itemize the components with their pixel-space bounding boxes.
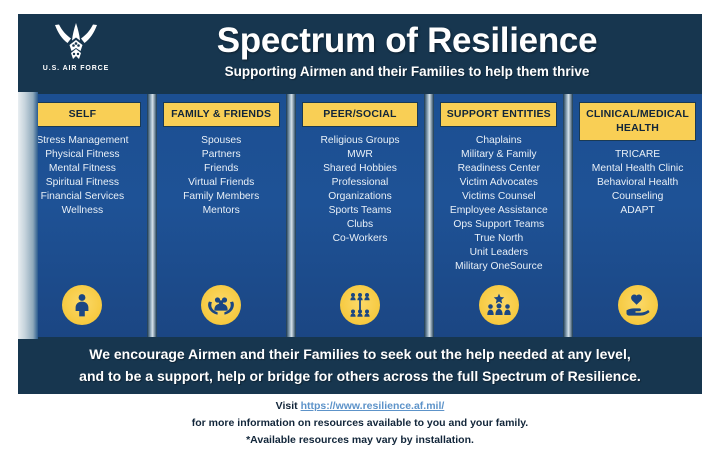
team-with-star-icon [479, 285, 519, 325]
footer-line-2: for more information on resources availa… [0, 415, 720, 432]
list-item: Wellness [20, 204, 145, 218]
list-item: Mentors [159, 204, 284, 218]
footer-visit-line: Visit https://www.resilience.af.mil/ [0, 398, 720, 415]
list-item: Ops Support Teams [436, 218, 561, 232]
list-item: Religious Groups [298, 134, 423, 148]
column-heading-clinical-medical-health: CLINICAL/MEDICAL HEALTH [579, 102, 696, 141]
column-divider [147, 94, 157, 337]
usaf-logo-caption: U.S. AIR FORCE [30, 65, 122, 72]
column-list-family-friends: Spouses Partners Friends Virtual Friends… [159, 134, 284, 218]
list-item: Spouses [159, 134, 284, 148]
poster-card: U.S. AIR FORCE Spectrum of Resilience Su… [18, 14, 702, 394]
list-item: Chaplains [436, 134, 561, 148]
column-clinical-medical-health: CLINICAL/MEDICAL HEALTH TRICARE Mental H… [573, 94, 702, 337]
column-support-entities: SUPPORT ENTITIES Chaplains Military & Fa… [434, 94, 563, 337]
list-item: ADAPT [575, 204, 700, 218]
list-item: Virtual Friends [159, 176, 284, 190]
list-item: Financial Services [20, 190, 145, 204]
usaf-logo-block: U.S. AIR FORCE [30, 22, 122, 72]
person-icon [62, 285, 102, 325]
poster-subtitle: Supporting Airmen and their Families to … [122, 64, 692, 79]
list-item: Co-Workers [298, 232, 423, 246]
resilience-website-link[interactable]: https://www.resilience.af.mil/ [301, 400, 445, 412]
column-heading-peer-social: PEER/SOCIAL [302, 102, 419, 127]
column-list-clinical-medical-health: TRICARE Mental Health Clinic Behavioral … [575, 148, 700, 218]
usaf-wings-icon [30, 22, 122, 62]
list-item: Behavioral Health [575, 176, 700, 190]
list-item: Organizations [298, 190, 423, 204]
hand-heart-icon [618, 285, 658, 325]
list-item: Shared Hobbies [298, 162, 423, 176]
list-item: Stress Management [20, 134, 145, 148]
list-item: Professional [298, 176, 423, 190]
title-block: Spectrum of Resilience Supporting Airmen… [122, 20, 692, 79]
list-item: Military OneSource [436, 260, 561, 274]
list-item: Unit Leaders [436, 246, 561, 260]
list-item: Mental Health Clinic [575, 162, 700, 176]
list-item: Sports Teams [298, 204, 423, 218]
column-divider [424, 94, 434, 337]
column-list-support-entities: Chaplains Military & Family Readiness Ce… [436, 134, 561, 274]
poster-footer: Visit https://www.resilience.af.mil/ for… [0, 398, 720, 449]
poster-header: U.S. AIR FORCE Spectrum of Resilience Su… [18, 14, 702, 92]
hands-holding-family-icon [201, 285, 241, 325]
list-item: TRICARE [575, 148, 700, 162]
column-heading-support-entities: SUPPORT ENTITIES [440, 102, 557, 127]
column-divider [286, 94, 296, 337]
footer-line-3: *Available resources may vary by install… [0, 432, 720, 449]
encouragement-banner: We encourage Airmen and their Families t… [18, 337, 702, 394]
list-item: Military & Family [436, 148, 561, 162]
column-heading-self: SELF [24, 102, 141, 127]
footer-visit-label: Visit [276, 400, 298, 412]
list-item: Victims Counsel [436, 190, 561, 204]
column-family-friends: FAMILY & FRIENDS Spouses Partners Friend… [157, 94, 286, 337]
list-item: MWR [298, 148, 423, 162]
banner-line-2: and to be a support, help or bridge for … [79, 366, 641, 388]
column-list-self: Stress Management Physical Fitness Menta… [20, 134, 145, 218]
column-peer-social: PEER/SOCIAL Religious Groups MWR Shared … [296, 94, 425, 337]
list-item: Victim Advocates [436, 176, 561, 190]
list-item: Spiritual Fitness [20, 176, 145, 190]
list-item: Mental Fitness [20, 162, 145, 176]
column-list-peer-social: Religious Groups MWR Shared Hobbies Prof… [298, 134, 423, 246]
list-item: Family Members [159, 190, 284, 204]
banner-line-1: We encourage Airmen and their Families t… [89, 344, 631, 366]
list-item: True North [436, 232, 561, 246]
spectrum-of-resilience-poster: U.S. AIR FORCE Spectrum of Resilience Su… [0, 0, 720, 457]
list-item: Partners [159, 148, 284, 162]
column-heading-family-friends: FAMILY & FRIENDS [163, 102, 280, 127]
list-item: Employee Assistance [436, 204, 561, 218]
people-network-icon [340, 285, 380, 325]
poster-title: Spectrum of Resilience [122, 20, 692, 61]
list-item: Clubs [298, 218, 423, 232]
left-edge-gradient-band [18, 92, 38, 339]
list-item: Readiness Center [436, 162, 561, 176]
spectrum-columns: SELF Stress Management Physical Fitness … [18, 94, 702, 337]
list-item: Physical Fitness [20, 148, 145, 162]
column-divider [563, 94, 573, 337]
list-item: Counseling [575, 190, 700, 204]
list-item: Friends [159, 162, 284, 176]
